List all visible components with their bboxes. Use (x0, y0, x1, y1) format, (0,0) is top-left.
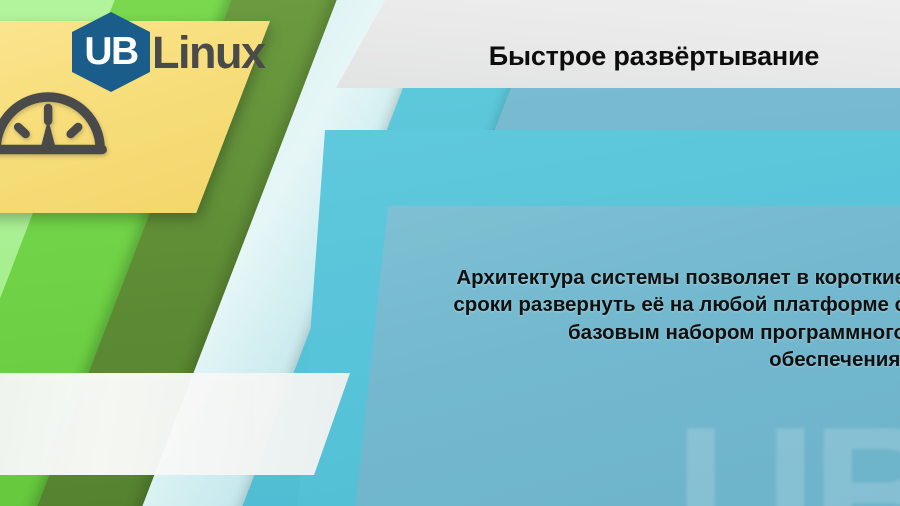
logo-hex-label: UB (84, 32, 137, 71)
ublinux-logo: UB Linux (72, 12, 265, 92)
slide-canvas: Быстрое развёртывание UB Архитектура сис… (0, 0, 900, 506)
hexagon-icon: UB (72, 12, 150, 92)
logo-wordmark: Linux (152, 30, 265, 75)
content-panel-inner: UB Архитектура системы позволяет в корот… (352, 206, 900, 506)
body-text: Архитектура системы позволяет в короткие… (444, 264, 900, 373)
ub-watermark: UB (675, 398, 900, 506)
title-banner: Быстрое развёртывание (336, 0, 900, 88)
logo-bar (0, 373, 350, 475)
page-title: Быстрое развёртывание (453, 41, 819, 88)
